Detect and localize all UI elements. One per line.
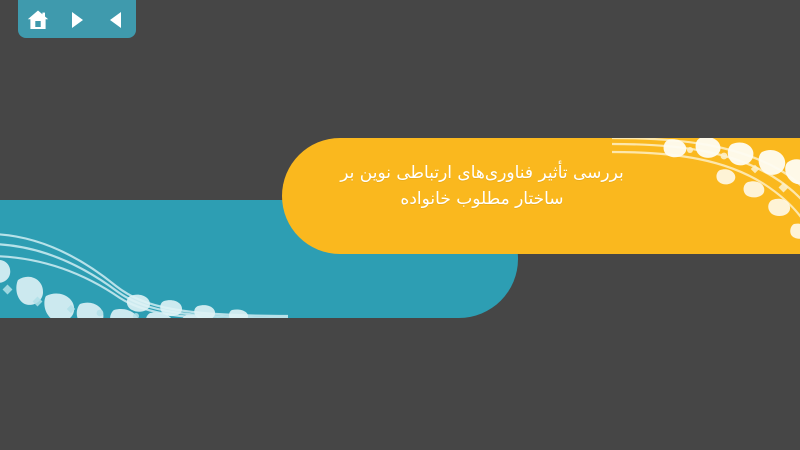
- arabesque-corner-ornament: [0, 200, 288, 318]
- triangle-right-icon: [66, 9, 88, 31]
- triangle-left-icon: [105, 9, 127, 31]
- next-slide-button[interactable]: [64, 7, 90, 33]
- home-button[interactable]: [25, 7, 51, 33]
- home-icon: [26, 8, 50, 32]
- slide-title-line-1: بررسی تأثیر فناوری‌های ارتباطی نوین بر: [292, 160, 672, 186]
- slide-title: بررسی تأثیر فناوری‌های ارتباطی نوین بر س…: [292, 160, 672, 213]
- presentation-slide: بررسی تأثیر فناوری‌های ارتباطی نوین بر س…: [0, 0, 800, 450]
- slide-title-line-2: ساختار مطلوب خانواده: [292, 186, 672, 212]
- previous-slide-button[interactable]: [103, 7, 129, 33]
- orange-title-panel: بررسی تأثیر فناوری‌های ارتباطی نوین بر س…: [282, 138, 800, 254]
- slide-navigation-bar: [18, 0, 136, 38]
